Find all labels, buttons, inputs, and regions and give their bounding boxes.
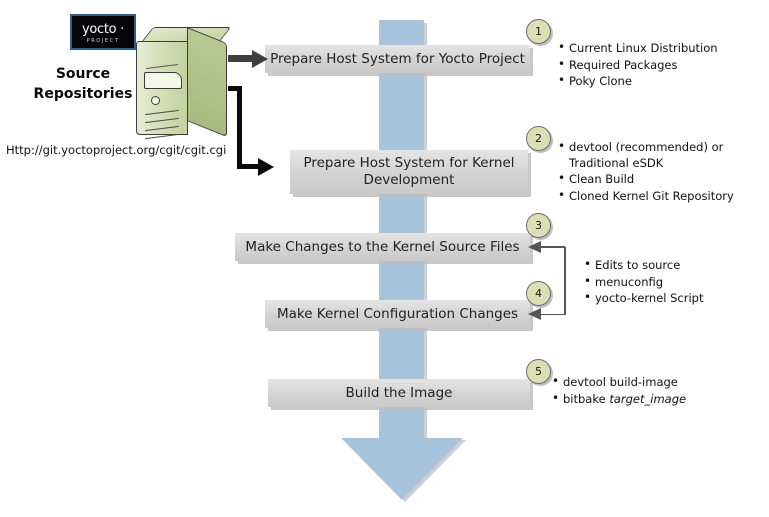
server-front-face (136, 41, 188, 135)
server-vent (145, 126, 179, 131)
step-box-5[interactable]: Build the Image (268, 379, 530, 407)
step-box-4-label: Make Kernel Configuration Changes (277, 306, 518, 323)
yocto-project-logo: yocto · PROJECT (70, 14, 136, 50)
arrowhead-to-step2-icon (258, 158, 274, 176)
step-number-5: 5 (526, 359, 551, 384)
source-repositories-url: Http://git.yoctoproject.org/cgit/cgit.cg… (6, 143, 226, 157)
list-item: yocto-kernel Script (595, 291, 769, 307)
step-box-1-label: Prepare Host System for Yocto Project (270, 51, 525, 68)
feedback-bracket-vertical (564, 247, 566, 315)
list-item: Poky Clone (569, 74, 766, 90)
server-power-led (151, 96, 160, 105)
step-3-4-shared-notes: Edits to source menuconfig yocto-kernel … (582, 258, 769, 308)
bitbake-prefix: bitbake (563, 392, 609, 406)
list-item: Edits to source (595, 258, 769, 274)
step-1-notes: Current Linux Distribution Required Pack… (556, 41, 766, 91)
connector-server-to-step2-v (237, 86, 242, 169)
step-number-1: 1 (526, 19, 551, 44)
step-box-3[interactable]: Make Changes to the Kernel Source Files (235, 233, 530, 261)
step-number-3-label: 3 (535, 219, 542, 232)
server-tower-icon (136, 27, 232, 137)
arrowhead-to-step3-icon (528, 241, 541, 253)
logo-subtext: PROJECT (72, 38, 134, 44)
step-box-5-label: Build the Image (346, 385, 453, 402)
logo-wordmark: yocto · (72, 22, 134, 37)
step-box-1[interactable]: Prepare Host System for Yocto Project (265, 45, 530, 73)
step-box-3-label: Make Changes to the Kernel Source Files (245, 239, 519, 256)
bitbake-target-image: target_image (609, 392, 686, 406)
list-item: Required Packages (569, 58, 766, 74)
step-number-4: 4 (526, 281, 551, 306)
step-number-2: 2 (526, 126, 551, 151)
step-number-2-label: 2 (535, 132, 542, 145)
step-box-4[interactable]: Make Kernel Configuration Changes (265, 300, 530, 328)
flow-arrow-shaft (379, 20, 424, 440)
step-box-2[interactable]: Prepare Host System for Kernel Developme… (290, 150, 528, 194)
list-item: devtool build-image (563, 375, 760, 391)
list-item: Current Linux Distribution (569, 41, 766, 57)
diagram-canvas: yocto · PROJECT Source Repositories Http… (0, 0, 769, 517)
server-slot (146, 64, 178, 69)
server-vent (145, 118, 179, 123)
source-repositories-label: Source Repositories (18, 64, 148, 104)
server-drive-bay (144, 72, 182, 89)
server-side-face (187, 27, 227, 137)
step-2-notes: devtool (recommended) or Traditional eSD… (556, 140, 766, 205)
server-vent (145, 134, 179, 139)
step-number-4-label: 4 (535, 287, 542, 300)
list-item: devtool (recommended) or Traditional eSD… (569, 140, 766, 171)
step-5-notes: devtool build-image bitbake target_image (550, 375, 760, 408)
feedback-bracket-bottom (538, 314, 565, 316)
list-item: menuconfig (595, 275, 769, 291)
server-vent (145, 110, 179, 115)
list-item: Clean Build (569, 172, 766, 188)
step-box-2-label: Prepare Host System for Kernel Developme… (290, 155, 528, 189)
feedback-bracket-top (538, 246, 565, 248)
step-number-3: 3 (526, 213, 551, 238)
list-item: bitbake target_image (563, 392, 760, 408)
list-item: Cloned Kernel Git Repository (569, 189, 766, 205)
arrowhead-to-step4-icon (528, 308, 541, 320)
step-number-1-label: 1 (535, 25, 542, 38)
step-number-5-label: 5 (535, 365, 542, 378)
flow-arrow-head-icon (341, 438, 463, 500)
arrowhead-to-step1-icon (252, 50, 268, 68)
